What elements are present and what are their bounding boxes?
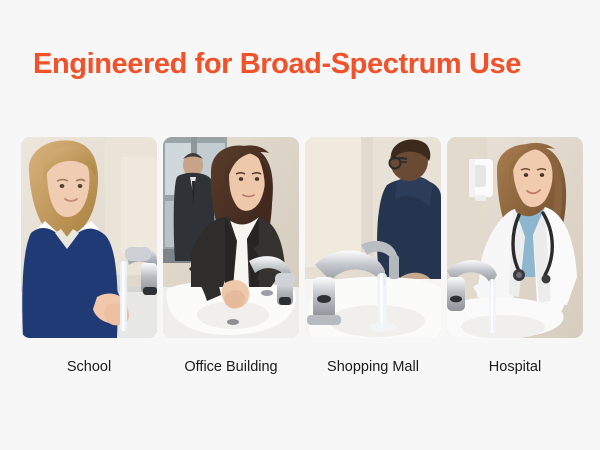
use-case-card-label: School — [67, 358, 111, 376]
photo-hospital-doctor-washing-hands — [447, 137, 583, 338]
mall-scene-illustration — [305, 137, 441, 338]
school-scene-illustration — [21, 137, 157, 338]
promo-banner: Engineered for Broad-Spectrum Use — [0, 0, 600, 450]
hospital-scene-illustration — [447, 137, 583, 338]
use-case-card-hospital[interactable]: Hospital — [447, 137, 583, 376]
photo-office-woman-washing-hands — [163, 137, 299, 338]
page-title: Engineered for Broad-Spectrum Use — [33, 45, 573, 83]
use-case-card-label: Hospital — [489, 358, 541, 376]
use-case-card-label: Office Building — [184, 358, 277, 376]
office-scene-illustration — [163, 137, 299, 338]
use-case-card-shopping-mall[interactable]: Shopping Mall — [305, 137, 441, 376]
photo-mall-man-washing-hands — [305, 137, 441, 338]
use-case-card-list: School — [21, 137, 579, 376]
use-case-card-office-building[interactable]: Office Building — [163, 137, 299, 376]
use-case-card-label: Shopping Mall — [327, 358, 419, 376]
photo-school-girl-washing-hands — [21, 137, 157, 338]
use-case-card-school[interactable]: School — [21, 137, 157, 376]
